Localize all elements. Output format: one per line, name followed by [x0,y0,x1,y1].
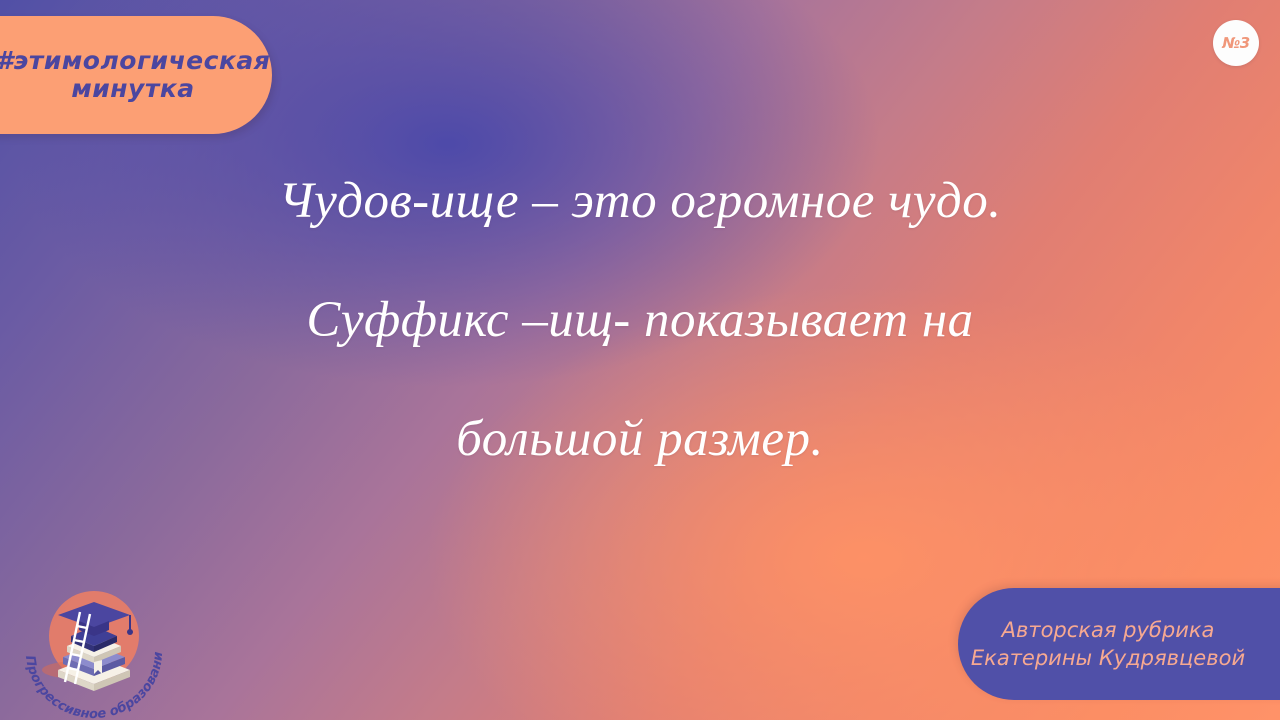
quote-line-3: большой размер. [0,414,1280,465]
slide-canvas: #этимологическая минутка №3 Чудов-ище – … [0,0,1280,720]
hashtag-badge-line-2: минутка [71,75,194,103]
hashtag-badge-line-1: #этимологическая [0,47,270,75]
hashtag-badge: #этимологическая минутка [0,16,272,134]
author-badge: Авторская рубрика Екатерины Кудрявцевой [958,588,1280,700]
quote-line-2: Суффикс –ищ- показывает на [0,295,1280,346]
brand-logo-graphic: Прогрессивное образование [18,578,170,720]
quote-block: Чудов-ище – это огромное чудо. Суффикс –… [0,176,1280,465]
quote-line-1: Чудов-ище – это огромное чудо. [0,176,1280,227]
episode-number-label: №3 [1222,34,1249,52]
author-badge-line-1: Авторская рубрика [1002,616,1215,644]
episode-number-badge: №3 [1213,20,1259,66]
brand-logo: Прогрессивное образование Прогрессивное … [18,578,170,720]
author-badge-line-2: Екатерины Кудрявцевой [971,644,1245,672]
